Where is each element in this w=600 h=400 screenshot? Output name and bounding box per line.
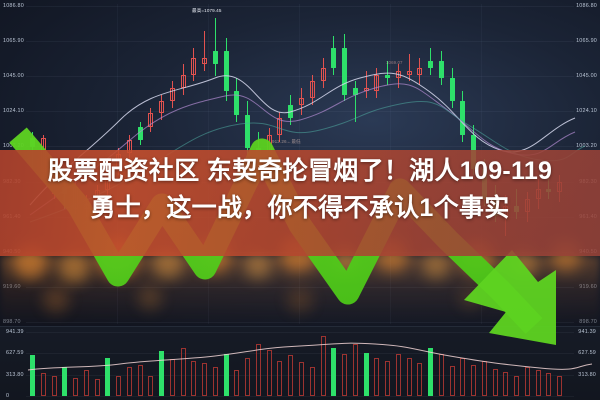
headline-line-2: 勇士，这一战，你不得不承认1个事实 <box>0 190 600 227</box>
headline-text: 股票配资社区 东契奇抡冒烟了！湖人109-119 勇士，这一战，你不得不承认1个… <box>0 153 600 227</box>
stock-chart-banner-image: 1086.801065.901045.001024.101003.20982.3… <box>0 0 600 400</box>
headline-line-1: 股票配资社区 东契奇抡冒烟了！湖人109-119 <box>48 157 553 185</box>
